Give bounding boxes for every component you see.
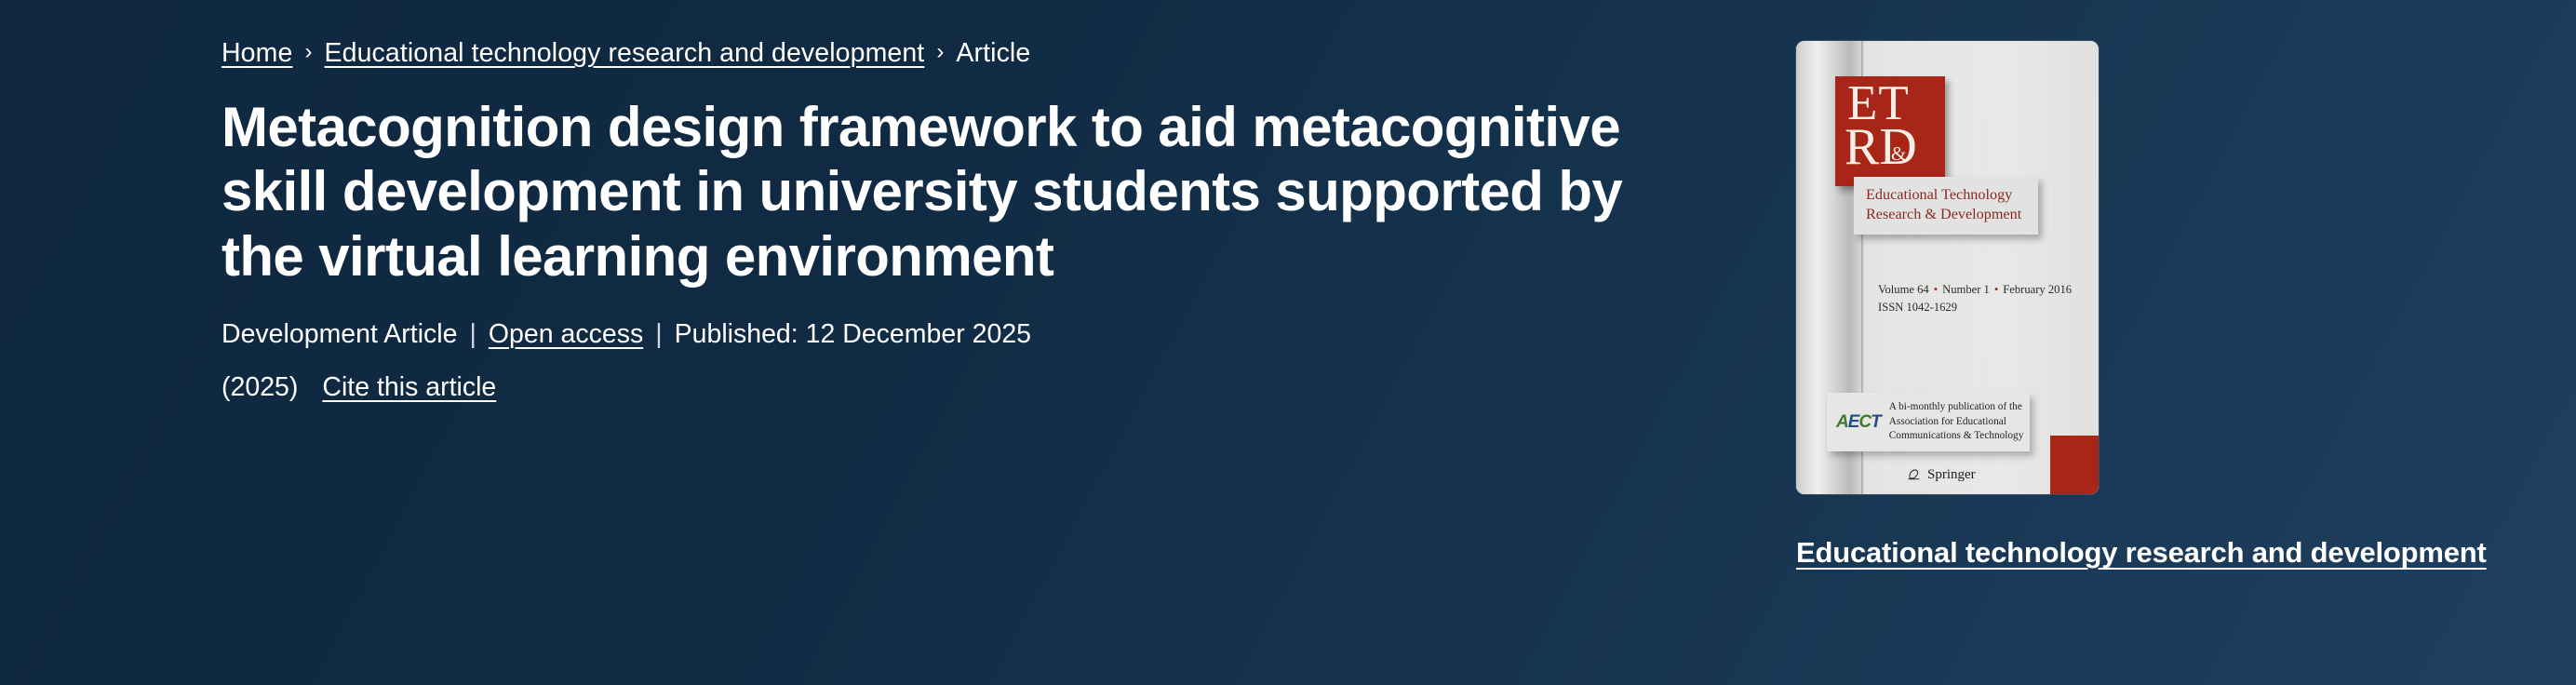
springer-label: Springer bbox=[1927, 467, 1976, 483]
aect-society-line2: Association for Educational bbox=[1889, 415, 2024, 430]
cover-volume-info: Volume 64•Number 1•February 2016 ISSN 10… bbox=[1878, 281, 2072, 316]
aect-society-line1: A bi-monthly publication of the bbox=[1889, 400, 2024, 415]
bullet-icon: • bbox=[1934, 283, 1938, 296]
article-header-page: Home › Educational technology research a… bbox=[0, 0, 2576, 685]
journal-title-link[interactable]: Educational technology research and deve… bbox=[1796, 533, 2489, 573]
bullet-icon: • bbox=[1994, 283, 1998, 296]
article-meta: Development Article | Open access | Publ… bbox=[221, 318, 1729, 352]
cover-journal-title-line2: Research & Development bbox=[1866, 205, 2028, 224]
breadcrumb-current: Article bbox=[956, 37, 1030, 69]
aect-letter-e: E bbox=[1848, 412, 1859, 432]
aect-letter-t: T bbox=[1871, 412, 1881, 432]
article-type: Development Article bbox=[221, 318, 457, 352]
meta-divider: | bbox=[469, 318, 476, 352]
etrd-logo-ampersand: & bbox=[1891, 144, 1906, 164]
breadcrumb: Home › Educational technology research a… bbox=[221, 37, 1729, 69]
journal-cover-image[interactable]: ET RD & Educational Technology Research … bbox=[1796, 41, 2099, 494]
published-date: Published: 12 December 2025 bbox=[675, 318, 1031, 352]
cover-date: February 2016 bbox=[2003, 283, 2072, 296]
aect-letter-a: A bbox=[1836, 412, 1848, 432]
aect-logo-icon: AECT bbox=[1836, 413, 1881, 431]
chevron-right-icon: › bbox=[304, 39, 312, 66]
aect-society-line3: Communications & Technology bbox=[1889, 429, 2024, 444]
publication-year: (2025) bbox=[221, 372, 298, 403]
aect-letter-c: C bbox=[1858, 412, 1871, 432]
chevron-right-icon: › bbox=[936, 39, 944, 66]
journal-sidebar: ET RD & Educational Technology Research … bbox=[1796, 41, 2485, 573]
page-title: Metacognition design framework to aid me… bbox=[221, 95, 1692, 289]
article-header-main: Home › Educational technology research a… bbox=[221, 37, 1729, 403]
cover-issn: ISSN 1042-1629 bbox=[1878, 299, 2072, 316]
citation-line: (2025) Cite this article bbox=[221, 372, 1729, 403]
cover-number: Number 1 bbox=[1942, 283, 1990, 296]
aect-society-box: AECT A bi-monthly publication of the Ass… bbox=[1827, 393, 2030, 451]
cite-this-article-link[interactable]: Cite this article bbox=[322, 372, 496, 403]
cover-volume: Volume 64 bbox=[1878, 283, 1929, 296]
meta-divider: | bbox=[655, 318, 662, 352]
aect-society-text: A bi-monthly publication of the Associat… bbox=[1889, 400, 2024, 444]
springer-publisher-mark: Springer bbox=[1906, 467, 1976, 483]
cover-journal-title-line1: Educational Technology bbox=[1866, 185, 2028, 205]
cover-red-accent bbox=[2050, 436, 2099, 494]
breadcrumb-journal-link[interactable]: Educational technology research and deve… bbox=[325, 37, 925, 69]
breadcrumb-home-link[interactable]: Home bbox=[221, 37, 292, 69]
springer-horse-icon bbox=[1906, 467, 1922, 483]
cover-journal-title-box: Educational Technology Research & Develo… bbox=[1854, 177, 2038, 235]
open-access-link[interactable]: Open access bbox=[489, 318, 643, 352]
etrd-logo-icon: ET RD & bbox=[1835, 76, 1945, 186]
cover-volume-line: Volume 64•Number 1•February 2016 bbox=[1878, 281, 2072, 299]
